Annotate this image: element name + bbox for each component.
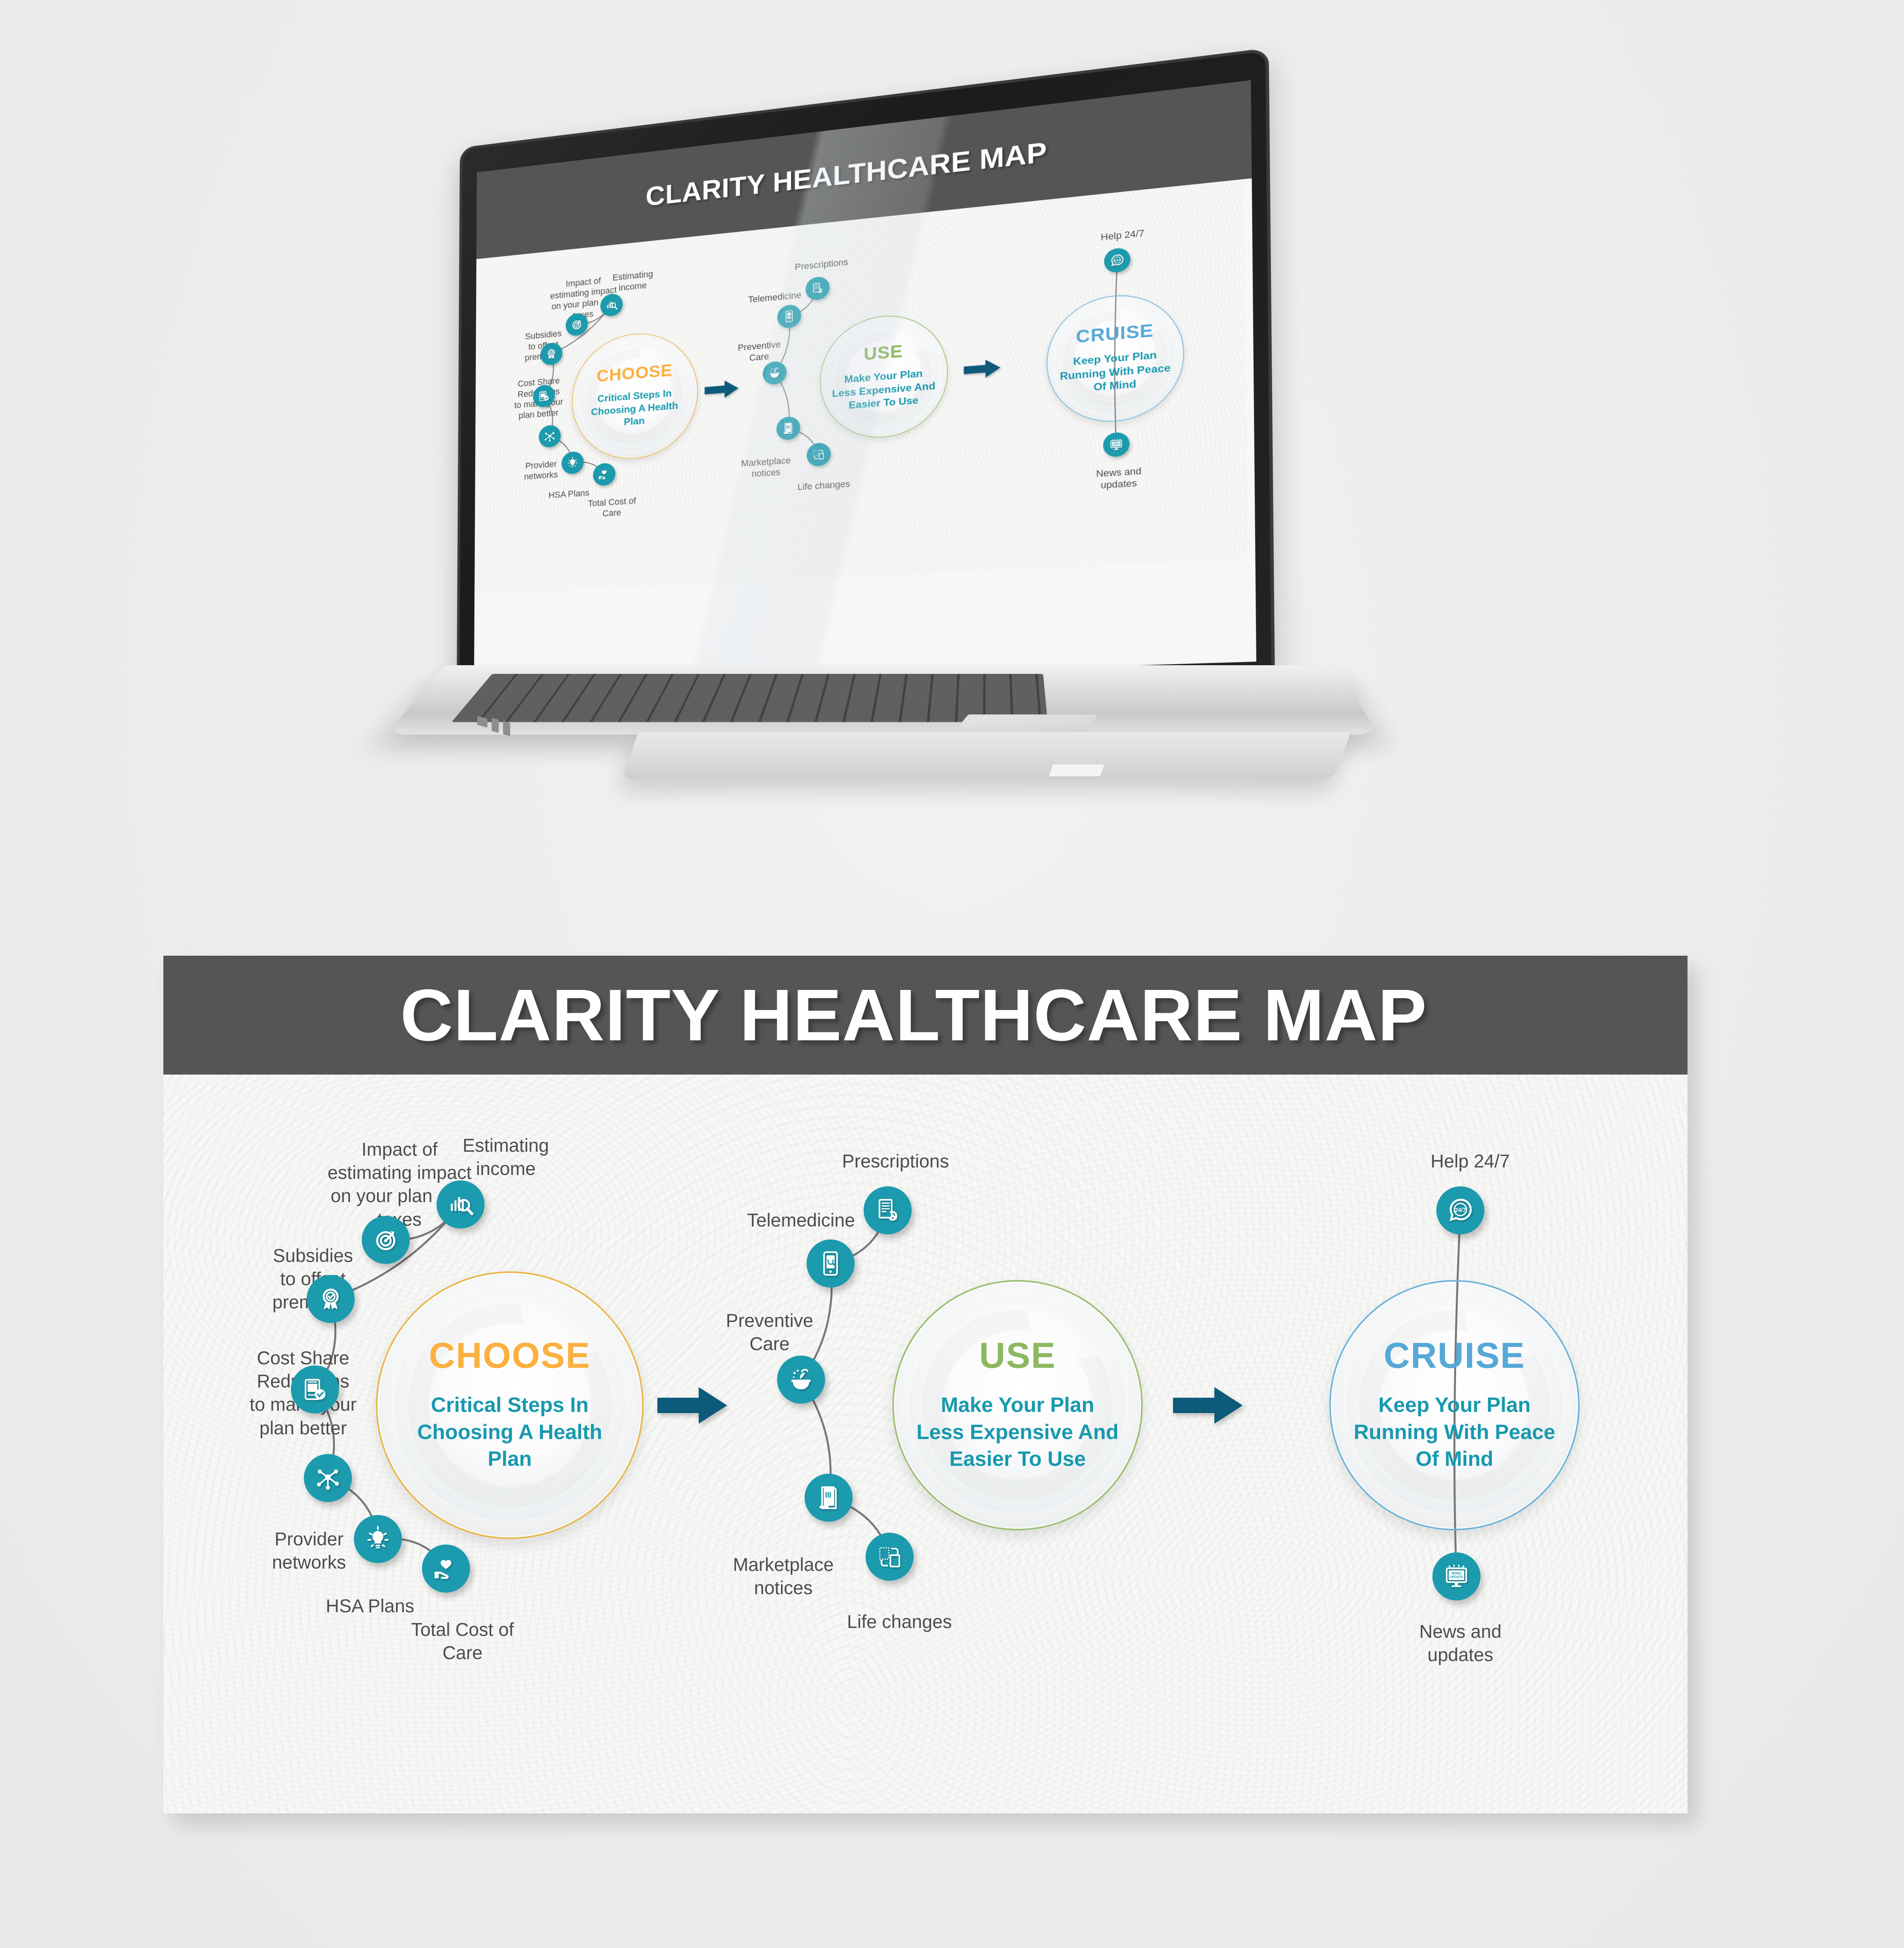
node-support-24-7-icon[interactable]: 24/7 [1104, 247, 1131, 273]
target-icon [571, 318, 583, 331]
node-label: Total Cost of Care [392, 1618, 533, 1664]
node-heart-in-hand-icon[interactable] [422, 1545, 470, 1593]
laptop-base-front [621, 732, 1351, 779]
step-arrow-2 [964, 357, 1001, 380]
node-label: Prescriptions [779, 254, 865, 274]
node-label: Estimating income [601, 267, 664, 295]
lightbulb-icon [365, 1526, 391, 1552]
heart-in-hand-icon [433, 1556, 459, 1582]
tablet-chart-check-icon [538, 389, 550, 402]
hub-circle-choose[interactable]: CHOOSECritical Steps In Choosing A Healt… [572, 328, 698, 462]
hub-content-choose: CHOOSECritical Steps In Choosing A Healt… [572, 328, 698, 462]
hub-circle-cruise[interactable]: CRUISEKeep Your Plan Running With Peace … [1329, 1280, 1580, 1530]
node-label: Telemedicine [714, 1208, 888, 1232]
hub-subtitle-choose: Critical Steps In Choosing A Health Plan [400, 1392, 620, 1473]
laptop-screen-bezel: CLARITY HEALTHCARE MAP CHOOSECritical St… [474, 80, 1256, 686]
hub-content-use: USEMake Your Plan Less Expensive And Eas… [820, 310, 948, 442]
mortar-pestle-icon [768, 366, 781, 379]
node-chart-search-icon[interactable] [437, 1180, 485, 1228]
laptop-lid: CLARITY HEALTHCARE MAP CHOOSECritical St… [457, 48, 1275, 701]
hub-subtitle-choose: Critical Steps In Choosing A Health Plan [583, 386, 686, 431]
node-label: News and updates [1382, 1620, 1539, 1666]
node-label: Preventive Care [723, 337, 796, 366]
news-monitor-icon: NEWSUPDATE [1109, 437, 1124, 451]
node-network-nodes-icon[interactable] [304, 1454, 352, 1502]
prescription-pad-icon [811, 281, 824, 295]
hub-circle-cruise[interactable]: CRUISEKeep Your Plan Running With Peace … [1046, 289, 1184, 426]
node-notice-document-icon[interactable] [805, 1474, 853, 1522]
news-monitor-icon: NEWSUPDATE [1443, 1563, 1469, 1589]
node-life-change-swap-icon[interactable] [866, 1533, 914, 1581]
node-heart-in-hand-icon[interactable] [593, 462, 615, 486]
node-network-nodes-icon[interactable] [539, 424, 561, 448]
svg-text:NEWS: NEWS [1114, 442, 1119, 444]
node-award-badge-icon[interactable] [307, 1275, 355, 1323]
laptop-latch [1049, 764, 1105, 776]
node-prescription-pad-icon[interactable] [864, 1186, 912, 1234]
hub-circle-choose[interactable]: CHOOSECritical Steps In Choosing A Healt… [376, 1271, 644, 1539]
node-lightbulb-icon[interactable] [562, 451, 584, 474]
infographic-panel: CLARITY HEALTHCARE MAP CHOOSECritical St… [163, 956, 1688, 1813]
notice-document-icon [782, 422, 795, 435]
hub-subtitle-cruise: Keep Your Plan Running With Peace Of Min… [1352, 1392, 1557, 1473]
hub-word-choose: CHOOSE [429, 1338, 591, 1374]
svg-text:24/7: 24/7 [1455, 1207, 1466, 1214]
target-icon [373, 1227, 399, 1253]
node-label: Telemedicine [732, 287, 818, 306]
node-tablet-chart-check-icon[interactable] [291, 1365, 339, 1413]
phone-stethoscope-icon [783, 309, 796, 323]
laptop-mockup: CLARITY HEALTHCARE MAP CHOOSECritical St… [445, 142, 1555, 858]
award-badge-icon [546, 347, 557, 360]
phone-stethoscope-icon [818, 1251, 844, 1276]
node-label: HSA Plans [299, 1594, 441, 1617]
hub-word-choose: CHOOSE [596, 361, 672, 385]
hub-content-choose: CHOOSECritical Steps In Choosing A Healt… [376, 1271, 644, 1539]
hub-subtitle-use: Make Your Plan Less Expensive And Easier… [831, 366, 936, 413]
network-nodes-icon [544, 430, 555, 443]
laptop-keyboard [451, 674, 1048, 722]
node-phone-stethoscope-icon[interactable] [807, 1239, 855, 1288]
life-change-swap-icon [812, 448, 825, 461]
chart-search-icon [448, 1191, 474, 1217]
notice-document-icon [816, 1485, 842, 1511]
laptop-screen: CLARITY HEALTHCARE MAP CHOOSECritical St… [474, 80, 1256, 686]
node-mortar-pestle-icon[interactable] [777, 1356, 825, 1404]
node-label: Marketplace notices [727, 453, 805, 481]
svg-text:24/7: 24/7 [1114, 259, 1121, 262]
node-label: News and updates [1075, 463, 1162, 492]
screenshot-canvas: CLARITY HEALTHCARE MAP CHOOSECritical St… [0, 0, 1904, 1948]
panel-body: CHOOSECritical Steps In Choosing A Healt… [163, 1075, 1688, 1813]
hub-word-use: USE [864, 342, 903, 363]
support-24-7-icon: 24/7 [1110, 253, 1124, 267]
node-mortar-pestle-icon[interactable] [763, 361, 786, 385]
support-24-7-icon: 24/7 [1447, 1197, 1473, 1223]
svg-text:NEWS: NEWS [1452, 1572, 1462, 1575]
hub-subtitle-use: Make Your Plan Less Expensive And Easier… [915, 1392, 1120, 1473]
node-label: Total Cost of Care [579, 494, 645, 520]
node-label: Preventive Care [695, 1309, 844, 1355]
chart-search-icon [605, 298, 618, 311]
prescription-pad-icon [875, 1197, 901, 1223]
lightbulb-icon [566, 456, 579, 469]
node-phone-stethoscope-icon[interactable] [777, 304, 801, 329]
node-life-change-swap-icon[interactable] [807, 442, 831, 467]
node-news-monitor-icon[interactable]: NEWSUPDATE [1432, 1552, 1480, 1600]
step-arrow-1 [705, 378, 739, 400]
hub-subtitle-cruise: Keep Your Plan Running With Peace Of Min… [1059, 347, 1172, 396]
node-label: Help 24/7 [1391, 1149, 1549, 1173]
mini-infographic-body: CHOOSECritical Steps In Choosing A Healt… [474, 178, 1256, 686]
node-support-24-7-icon[interactable]: 24/7 [1436, 1186, 1484, 1234]
hub-content-use: USEMake Your Plan Less Expensive And Eas… [892, 1280, 1143, 1530]
hub-circle-use[interactable]: USEMake Your Plan Less Expensive And Eas… [892, 1280, 1143, 1530]
heart-in-hand-icon [598, 468, 610, 481]
award-badge-icon [318, 1286, 344, 1312]
life-change-swap-icon [877, 1544, 903, 1570]
tablet-chart-check-icon [302, 1376, 328, 1402]
hub-content-cruise: CRUISEKeep Your Plan Running With Peace … [1046, 289, 1184, 426]
node-label: Life changes [821, 1610, 978, 1633]
network-nodes-icon [315, 1465, 341, 1491]
page-title: CLARITY HEALTHCARE MAP [400, 973, 1427, 1057]
node-label: Estimating income [439, 1134, 573, 1180]
mortar-pestle-icon [788, 1367, 814, 1393]
hub-content-cruise: CRUISEKeep Your Plan Running With Peace … [1329, 1280, 1580, 1530]
hub-word-cruise: CRUISE [1076, 321, 1154, 345]
hub-circle-use[interactable]: USEMake Your Plan Less Expensive And Eas… [820, 310, 948, 442]
node-notice-document-icon[interactable] [776, 416, 800, 440]
step-arrow-1 [657, 1385, 728, 1426]
hub-word-cruise: CRUISE [1384, 1338, 1525, 1374]
node-target-icon[interactable] [362, 1216, 410, 1264]
node-prescription-pad-icon[interactable] [805, 276, 829, 301]
node-label: Help 24/7 [1079, 225, 1166, 245]
node-label: Prescriptions [809, 1149, 982, 1173]
svg-text:UPDATE: UPDATE [1450, 1575, 1463, 1579]
step-arrow-2 [1173, 1385, 1244, 1426]
node-news-monitor-icon[interactable]: NEWSUPDATE [1103, 431, 1130, 457]
panel-header: CLARITY HEALTHCARE MAP [163, 956, 1688, 1075]
node-label: Marketplace notices [705, 1553, 862, 1599]
node-lightbulb-icon[interactable] [354, 1515, 402, 1563]
node-label: Life changes [785, 477, 864, 493]
mini-infographic: CLARITY HEALTHCARE MAP CHOOSECritical St… [474, 80, 1256, 686]
hub-word-use: USE [979, 1338, 1056, 1374]
